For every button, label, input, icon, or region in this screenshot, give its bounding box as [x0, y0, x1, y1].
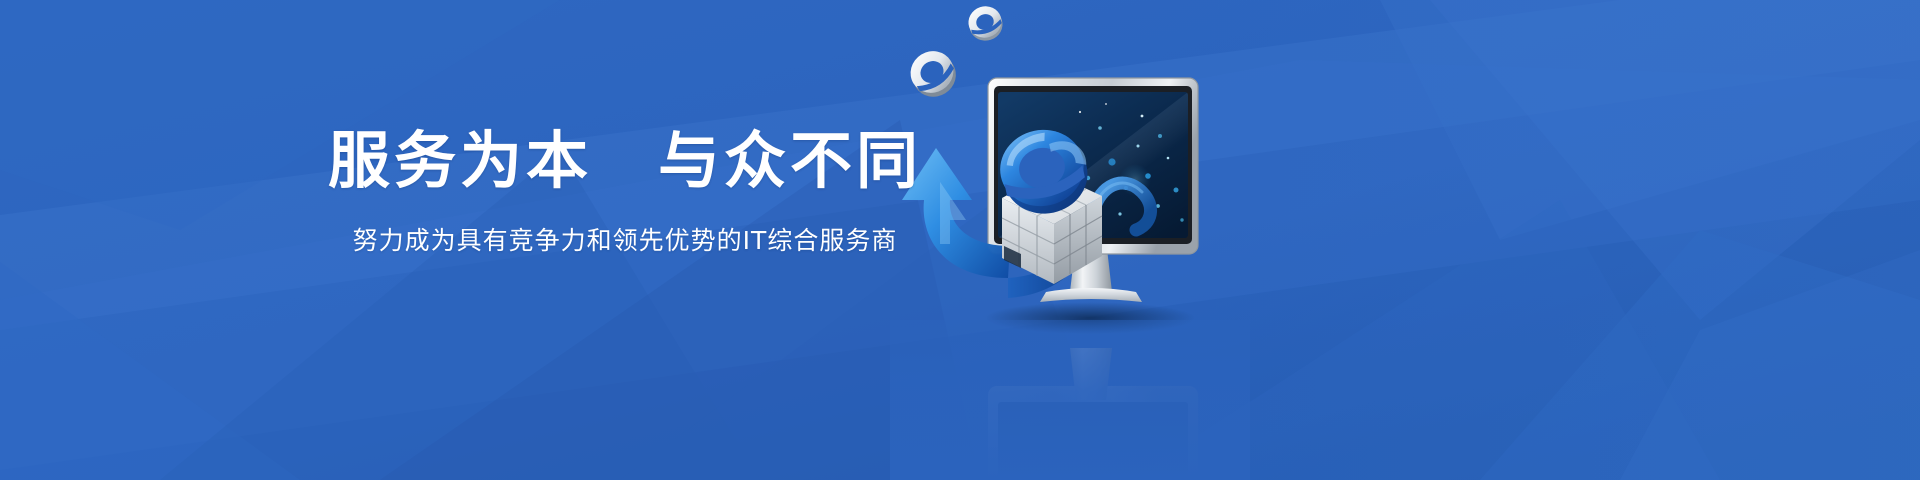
banner-headline: 服务为本 与众不同 — [0, 128, 1250, 195]
hero-banner: 服务为本 与众不同 努力成为具有竞争力和领先优势的IT综合服务商 — [0, 0, 1920, 480]
banner-subtitle: 努力成为具有竞争力和领先优势的IT综合服务商 — [0, 221, 1250, 257]
monitor-stand-foot — [1040, 288, 1142, 302]
banner-text-block: 服务为本 与众不同 努力成为具有竞争力和领先优势的IT综合服务商 — [0, 128, 1250, 257]
floating-browser-logo-2 — [903, 43, 964, 105]
floating-browser-logo-1 — [964, 2, 1006, 45]
